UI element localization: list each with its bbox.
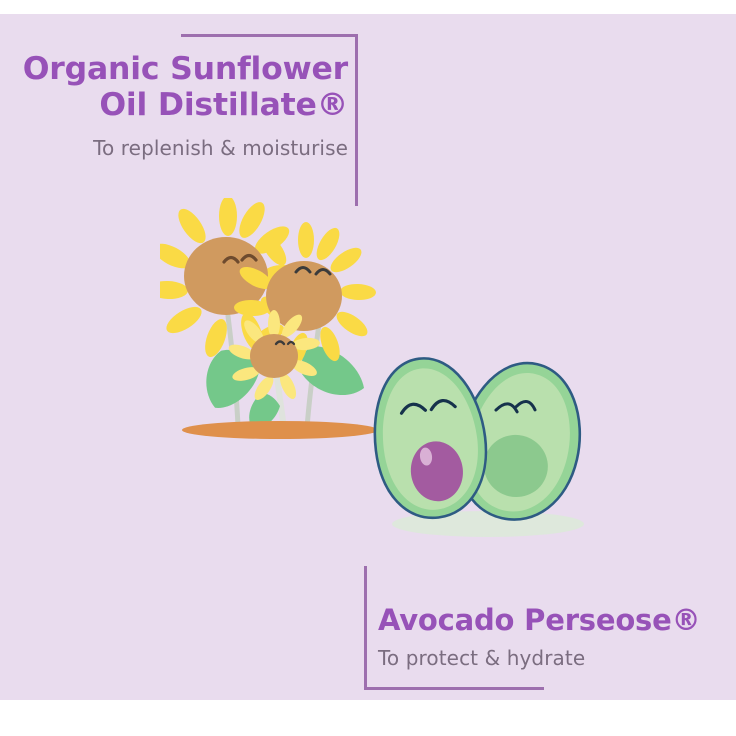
sunflower-illustration <box>160 198 390 450</box>
ingredient-infographic: Organic SunflowerOil Distillate® To repl… <box>0 0 736 736</box>
sunflower-title: Organic SunflowerOil Distillate® <box>0 52 348 123</box>
avocado-illustration <box>368 348 604 544</box>
sunflower-center-small <box>250 334 298 378</box>
sunflower-soil-base <box>182 421 378 439</box>
sunflower-title-line-1: Organic Sunflower <box>23 51 348 87</box>
bracket-bottom-horizontal-line <box>364 687 544 690</box>
bracket-top-horizontal-line <box>181 34 358 37</box>
bracket-bottom-vertical-line <box>364 566 367 690</box>
sunflower-title-line-2: Oil Distillate® <box>99 87 348 123</box>
avocado-text-block: Avocado Perseose® To protect & hydrate <box>378 604 730 670</box>
avocado-subtitle: To protect & hydrate <box>378 646 730 670</box>
avocado-title: Avocado Perseose® <box>378 604 730 637</box>
bracket-top-vertical-line <box>355 34 358 206</box>
sunflower-text-block: Organic SunflowerOil Distillate® To repl… <box>0 52 348 160</box>
sunflower-subtitle: To replenish & moisturise <box>0 136 348 160</box>
